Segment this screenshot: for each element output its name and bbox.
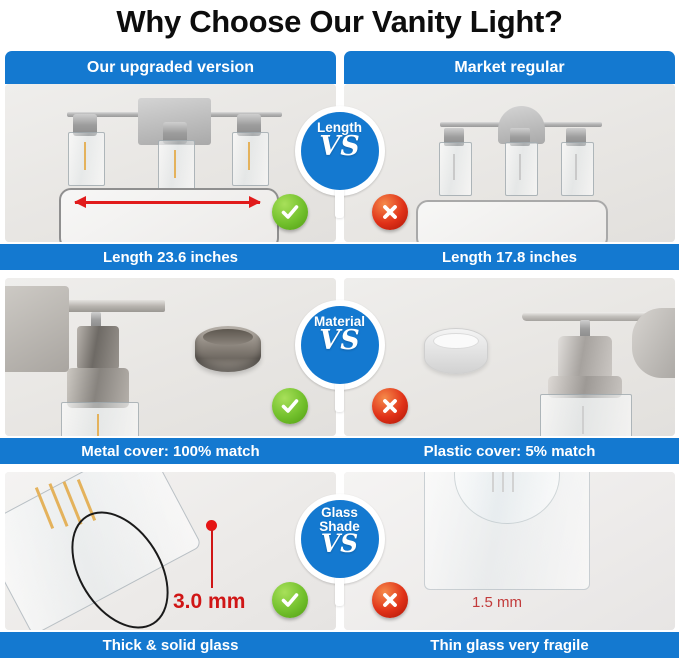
cross-icon — [380, 590, 400, 610]
verdict-cross-right-length — [372, 194, 408, 230]
thickness-label-left: 3.0 mm — [173, 590, 245, 614]
check-icon — [279, 201, 301, 223]
caption-bar-material: Metal cover: 100% match Plastic cover: 5… — [0, 438, 679, 464]
caption-right-material: Plastic cover: 5% match — [344, 438, 675, 464]
verdict-cross-right-material — [372, 388, 408, 424]
cross-icon — [380, 396, 400, 416]
aluminum-ring-sample — [195, 326, 261, 372]
caption-left-glass: Thick & solid glass — [5, 632, 336, 658]
verdict-check-left-length — [272, 194, 308, 230]
page-title: Why Choose Our Vanity Light? — [0, 0, 679, 44]
comparison-row-glass-shade: 3.0 mm 1.5 mm Glass Shade — [0, 472, 679, 663]
caption-left-length: Length 23.6 inches — [5, 244, 336, 270]
length-arrow-left — [75, 201, 260, 204]
comparison-row-material: Material VS Metal cover: 100% match Plas… — [0, 278, 679, 470]
check-icon — [279, 395, 301, 417]
thickness-label-right: 1.5 mm — [472, 594, 522, 611]
comparison-row-length: Length VS Length 23.6 inches Length 17.8… — [0, 84, 679, 276]
column-header-right: Market regular — [344, 51, 675, 84]
column-header-left: Our upgraded version — [5, 51, 336, 84]
check-icon — [279, 589, 301, 611]
caption-right-length: Length 17.8 inches — [344, 244, 675, 270]
cross-icon — [380, 202, 400, 222]
verdict-check-left-glass — [272, 582, 308, 618]
caption-right-glass: Thin glass very fragile — [344, 632, 675, 658]
verdict-check-left-material — [272, 388, 308, 424]
infographic-page: Why Choose Our Vanity Light? Our upgrade… — [0, 0, 679, 663]
caption-left-material: Metal cover: 100% match — [5, 438, 336, 464]
caption-bar-length: Length 23.6 inches Length 17.8 inches — [0, 244, 679, 270]
plastic-ring-sample — [424, 328, 488, 374]
thickness-leader-line — [211, 530, 213, 588]
caption-bar-glass: Thick & solid glass Thin glass very frag… — [0, 632, 679, 658]
verdict-cross-right-glass — [372, 582, 408, 618]
